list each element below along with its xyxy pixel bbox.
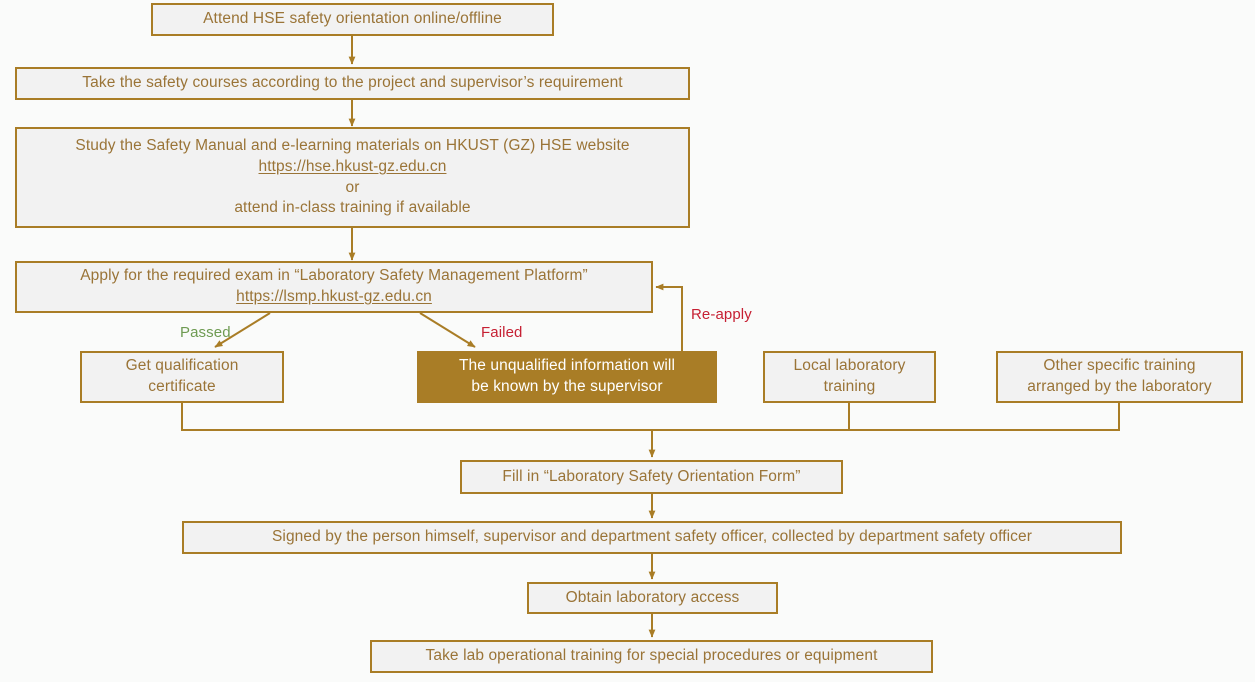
node-unqualified-information[interactable]: The unqualified information will be know…	[417, 351, 717, 403]
node-obtain-laboratory-access-label: Obtain laboratory access	[566, 588, 740, 609]
node-other-specific-training-line1: Other specific training	[1043, 356, 1195, 377]
node-study-manual-line4: attend in-class training if available	[234, 198, 470, 219]
node-apply-exam-url[interactable]: https://lsmp.hkust-gz.edu.cn	[236, 287, 432, 308]
node-take-courses-label: Take the safety courses according to the…	[82, 73, 622, 94]
node-take-lab-operational-training-label: Take lab operational training for specia…	[426, 646, 878, 667]
node-local-laboratory-training[interactable]: Local laboratory training	[763, 351, 936, 403]
node-signed-by-officers-label: Signed by the person himself, supervisor…	[272, 527, 1032, 548]
node-study-manual-url[interactable]: https://hse.hkust-gz.edu.cn	[259, 157, 447, 178]
node-other-specific-training-line2: arranged by the laboratory	[1027, 377, 1211, 398]
node-other-specific-training[interactable]: Other specific training arranged by the …	[996, 351, 1243, 403]
flowchart-canvas: Attend HSE safety orientation online/off…	[0, 0, 1255, 682]
connector-other-training-to-bus	[652, 403, 1119, 430]
node-study-manual[interactable]: Study the Safety Manual and e-learning m…	[15, 127, 690, 228]
node-fill-orientation-form-label: Fill in “Laboratory Safety Orientation F…	[502, 467, 800, 488]
connector-local-training-to-bus	[652, 403, 849, 430]
connector-apply-to-unqualified	[420, 313, 475, 347]
node-fill-orientation-form[interactable]: Fill in “Laboratory Safety Orientation F…	[460, 460, 843, 494]
edge-label-reapply: Re-apply	[691, 306, 752, 323]
node-signed-by-officers[interactable]: Signed by the person himself, supervisor…	[182, 521, 1122, 554]
node-unqualified-information-line1: The unqualified information will	[459, 356, 675, 377]
node-apply-exam-line1: Apply for the required exam in “Laborato…	[80, 266, 588, 287]
node-study-manual-line3: or	[346, 178, 360, 199]
node-attend-orientation[interactable]: Attend HSE safety orientation online/off…	[151, 3, 554, 36]
node-local-laboratory-training-line2: training	[824, 377, 876, 398]
connector-certificate-to-bus	[182, 403, 652, 430]
node-take-lab-operational-training[interactable]: Take lab operational training for specia…	[370, 640, 933, 673]
node-apply-exam[interactable]: Apply for the required exam in “Laborato…	[15, 261, 653, 313]
node-get-certificate-line1: Get qualification	[126, 356, 239, 377]
connector-layer	[0, 0, 1255, 682]
connector-reapply-loop	[656, 287, 682, 351]
node-study-manual-line1: Study the Safety Manual and e-learning m…	[75, 136, 629, 157]
edge-label-passed: Passed	[180, 324, 231, 341]
node-get-certificate[interactable]: Get qualification certificate	[80, 351, 284, 403]
node-get-certificate-line2: certificate	[148, 377, 215, 398]
node-take-courses[interactable]: Take the safety courses according to the…	[15, 67, 690, 100]
node-attend-orientation-label: Attend HSE safety orientation online/off…	[203, 9, 502, 30]
edge-label-failed: Failed	[481, 324, 522, 341]
node-obtain-laboratory-access[interactable]: Obtain laboratory access	[527, 582, 778, 614]
node-unqualified-information-line2: be known by the supervisor	[471, 377, 662, 398]
node-local-laboratory-training-line1: Local laboratory	[794, 356, 906, 377]
